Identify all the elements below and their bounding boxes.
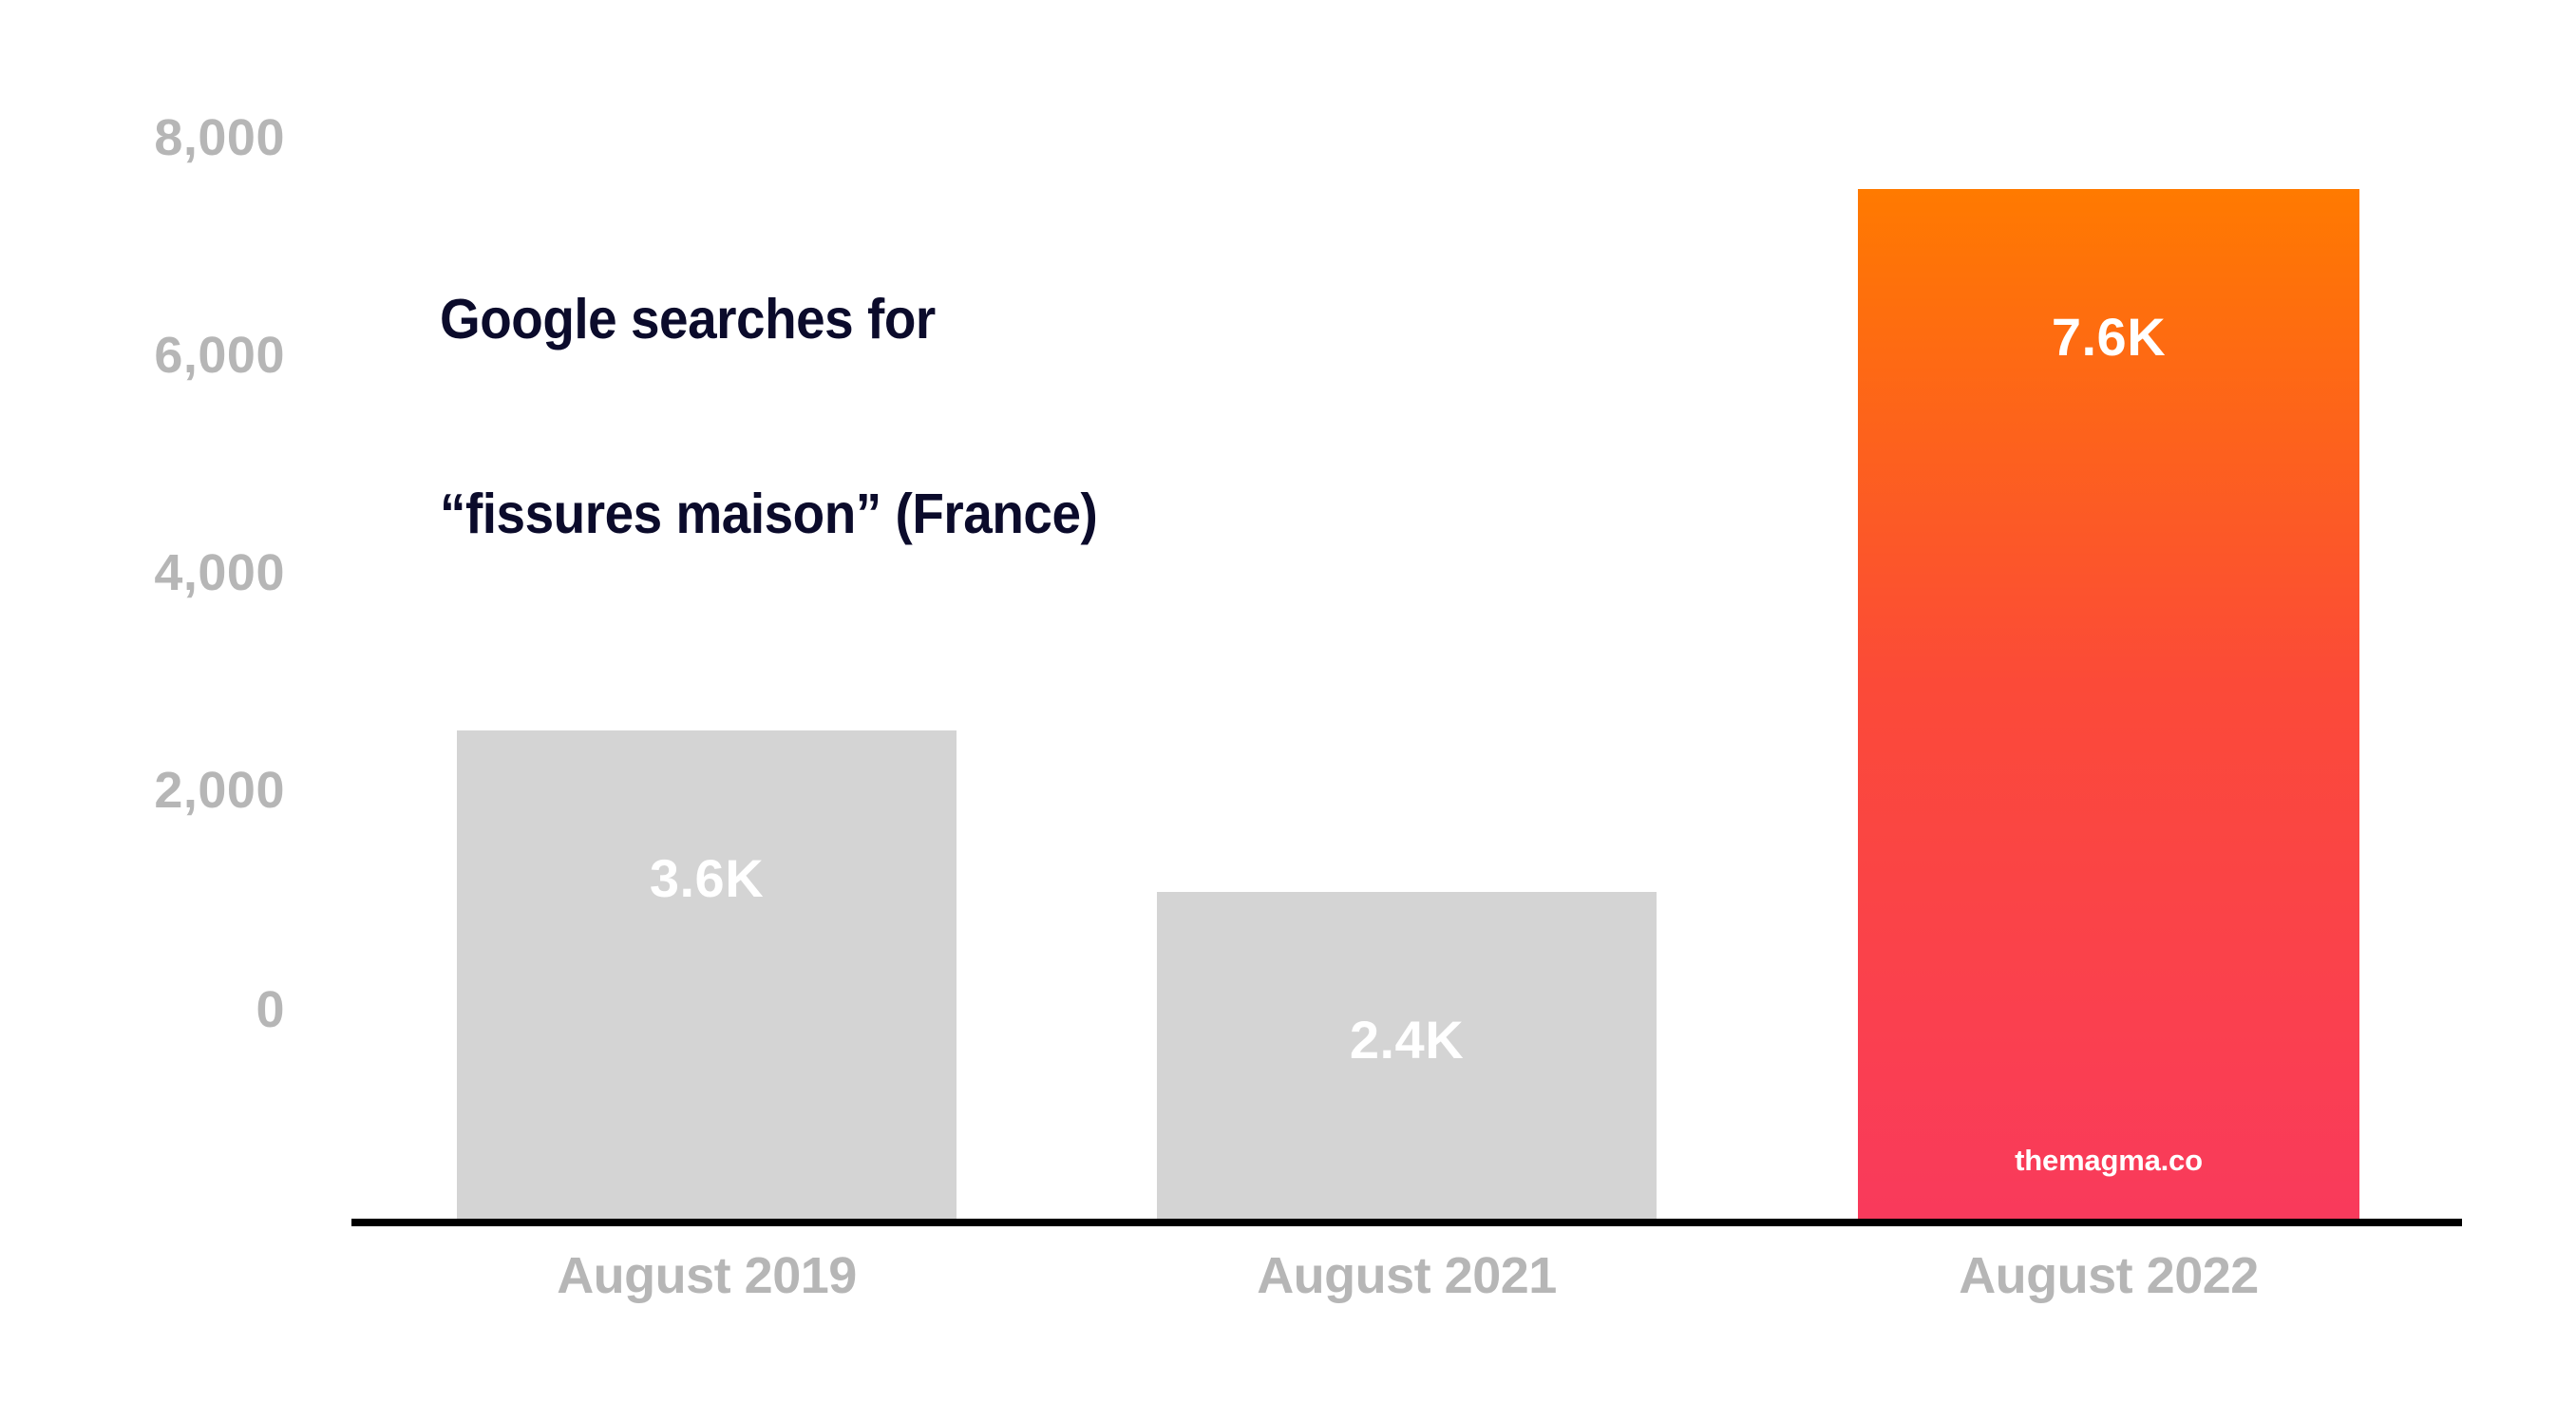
bar-value-label-august-2019: 3.6K	[457, 852, 957, 905]
bar-august-2019[interactable]: 3.6K	[457, 730, 957, 1221]
watermark-label: themagma.co	[1858, 1146, 2359, 1175]
x-axis-tick-august-2019: August 2019	[457, 1250, 957, 1301]
x-axis-tick-august-2022: August 2022	[1858, 1250, 2359, 1301]
bar-value-label-august-2021: 2.4K	[1157, 1014, 1657, 1067]
bar-august-2021[interactable]: 2.4K	[1157, 892, 1657, 1221]
x-axis-tick-august-2021: August 2021	[1157, 1250, 1657, 1301]
bar-value-label-august-2022: 7.6K	[1858, 311, 2359, 364]
chart-container: 8,000 6,000 4,000 2,000 0 Google searche…	[0, 0, 2576, 1421]
plot-area: 3.6K 2.4K 7.6K themagma.co	[0, 0, 2576, 1421]
bar-august-2022[interactable]: 7.6K themagma.co	[1858, 189, 2359, 1221]
x-axis-baseline	[351, 1219, 2462, 1226]
